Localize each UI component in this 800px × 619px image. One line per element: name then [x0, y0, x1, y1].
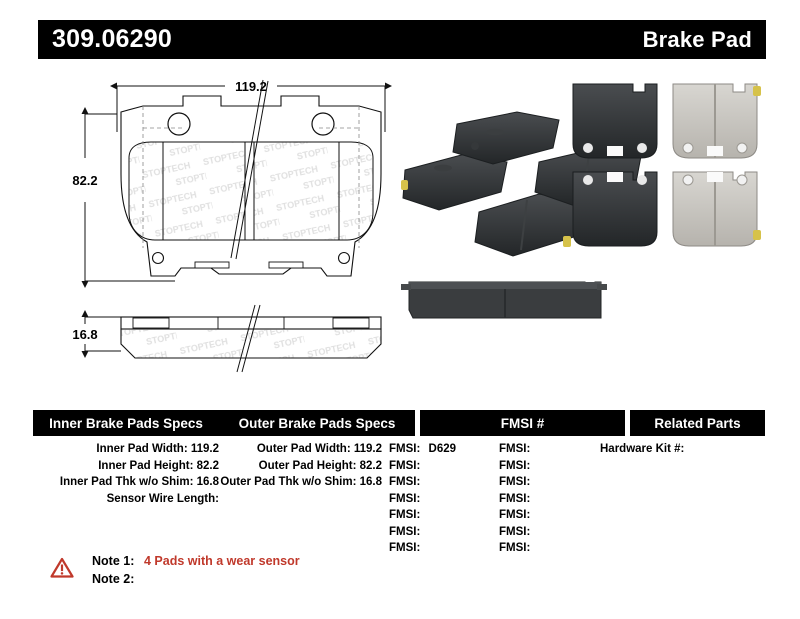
row-label: FMSI: [499, 526, 530, 538]
row-label: FMSI: [499, 542, 530, 554]
related-part-row: Hardware Kit #: [600, 441, 760, 458]
fmsi-row: FMSI: [499, 491, 599, 508]
row-label: FMSI: [389, 476, 420, 488]
specs-table-header: Inner Brake Pads Specs Outer Brake Pads … [33, 410, 765, 436]
outer-spec-row: Outer Pad Width: 119.2 [219, 441, 382, 458]
row-value [420, 542, 425, 554]
note-label: Note 1: [92, 552, 144, 570]
inner-spec-row: Inner Pad Height: 82.2 [33, 458, 219, 475]
dimension-height-label: 82.2 [72, 173, 97, 188]
row-value: 82.2 [193, 460, 219, 472]
photos-svg [395, 70, 770, 360]
fmsi-row: FMSI: [499, 507, 599, 524]
fmsi-row: FMSI: [389, 491, 509, 508]
note-text: 4 Pads with a wear sensor [144, 554, 300, 568]
fmsi-row: FMSI: [499, 441, 599, 458]
inner-spec-row: Inner Pad Thk w/o Shim: 16.8 [33, 474, 219, 491]
product-photos [395, 70, 770, 360]
technical-drawing: STOPTECH STOPTECH 119.2 [55, 62, 400, 392]
spec-sheet: 309.06290 Brake Pad STOPTECH STOPTECH [0, 0, 800, 619]
column-header-fmsi: FMSI # [420, 410, 625, 436]
row-value [420, 476, 425, 488]
row-label: FMSI: [389, 526, 420, 538]
outer-spec-row: Outer Pad Height: 82.2 [219, 458, 382, 475]
row-value [530, 493, 535, 505]
fmsi-list-right: FMSI:FMSI:FMSI:FMSI:FMSI:FMSI:FMSI: [499, 441, 599, 557]
row-value: 16.8 [356, 476, 382, 488]
row-value [530, 542, 535, 554]
column-header-outer-specs: Outer Brake Pads Specs [219, 410, 415, 436]
fmsi-row: FMSI: [499, 524, 599, 541]
fmsi-row: FMSI: D629 [389, 441, 509, 458]
row-label: FMSI: [389, 509, 420, 521]
inner-spec-row: Inner Pad Width: 119.2 [33, 441, 219, 458]
product-type: Brake Pad [643, 29, 752, 51]
pad-face-view [121, 80, 381, 276]
fmsi-row: FMSI: [389, 474, 509, 491]
row-value: 119.2 [188, 443, 219, 455]
note-label: Note 2: [92, 570, 144, 588]
header-bar: 309.06290 Brake Pad [38, 20, 766, 59]
column-header-inner-specs: Inner Brake Pads Specs [33, 410, 219, 436]
dimension-thickness-label: 16.8 [72, 327, 97, 342]
pad-side-view [121, 305, 381, 372]
part-number: 309.06290 [52, 27, 172, 52]
row-value [530, 460, 535, 472]
column-header-related-parts: Related Parts [630, 410, 765, 436]
note-line: Note 1:4 Pads with a wear sensor [92, 552, 300, 570]
row-label: Inner Pad Width: [96, 443, 187, 455]
row-label: Outer Pad Height: [259, 460, 357, 472]
fmsi-row: FMSI: [389, 458, 509, 475]
warning-triangle-icon [50, 557, 74, 583]
fmsi-row: FMSI: [499, 474, 599, 491]
row-value: D629 [420, 443, 456, 455]
fmsi-row: FMSI: [389, 524, 509, 541]
row-value [420, 460, 425, 472]
row-value [530, 443, 535, 455]
row-value [530, 509, 535, 521]
row-label: Outer Pad Width: [257, 443, 351, 455]
fmsi-row: FMSI: [389, 540, 509, 557]
row-label: FMSI: [389, 493, 420, 505]
fmsi-row: FMSI: [499, 458, 599, 475]
row-label: Sensor Wire Length: [107, 493, 219, 505]
note-line: Note 2: [92, 570, 300, 588]
outer-specs-list: Outer Pad Width: 119.2Outer Pad Height: … [219, 441, 382, 491]
fmsi-row: FMSI: [499, 540, 599, 557]
row-label: Outer Pad Thk w/o Shim: [220, 476, 356, 488]
row-value [420, 526, 425, 538]
inner-specs-list: Inner Pad Width: 119.2Inner Pad Height: … [33, 441, 219, 507]
row-value: 16.8 [193, 476, 219, 488]
inner-spec-row: Sensor Wire Length: [33, 491, 219, 508]
row-label: FMSI: [499, 509, 530, 521]
fmsi-list-left: FMSI: D629FMSI:FMSI:FMSI:FMSI:FMSI:FMSI: [389, 441, 509, 557]
row-label: FMSI: [389, 460, 420, 472]
fmsi-row: FMSI: [389, 507, 509, 524]
row-value [684, 443, 689, 455]
photo-pad-edge [401, 282, 607, 318]
row-value [420, 493, 425, 505]
related-parts-list: Hardware Kit #: [600, 441, 760, 458]
drawing-svg: STOPTECH STOPTECH 119.2 [55, 62, 400, 392]
row-label: FMSI: [499, 476, 530, 488]
row-label: FMSI: [499, 460, 530, 472]
outer-spec-row: Outer Pad Thk w/o Shim: 16.8 [219, 474, 382, 491]
row-label: Inner Pad Height: [98, 460, 193, 472]
row-label: Hardware Kit #: [600, 443, 684, 455]
row-label: FMSI: [499, 493, 530, 505]
row-label: FMSI: [389, 443, 420, 455]
row-value: 119.2 [351, 443, 382, 455]
row-label: FMSI: [499, 443, 530, 455]
row-value [420, 509, 425, 521]
row-value [530, 526, 535, 538]
note-lines: Note 1:4 Pads with a wear sensorNote 2: [92, 552, 300, 588]
row-value [530, 476, 535, 488]
row-value: 82.2 [356, 460, 382, 472]
row-label: FMSI: [389, 542, 420, 554]
row-label: Inner Pad Thk w/o Shim: [60, 476, 194, 488]
